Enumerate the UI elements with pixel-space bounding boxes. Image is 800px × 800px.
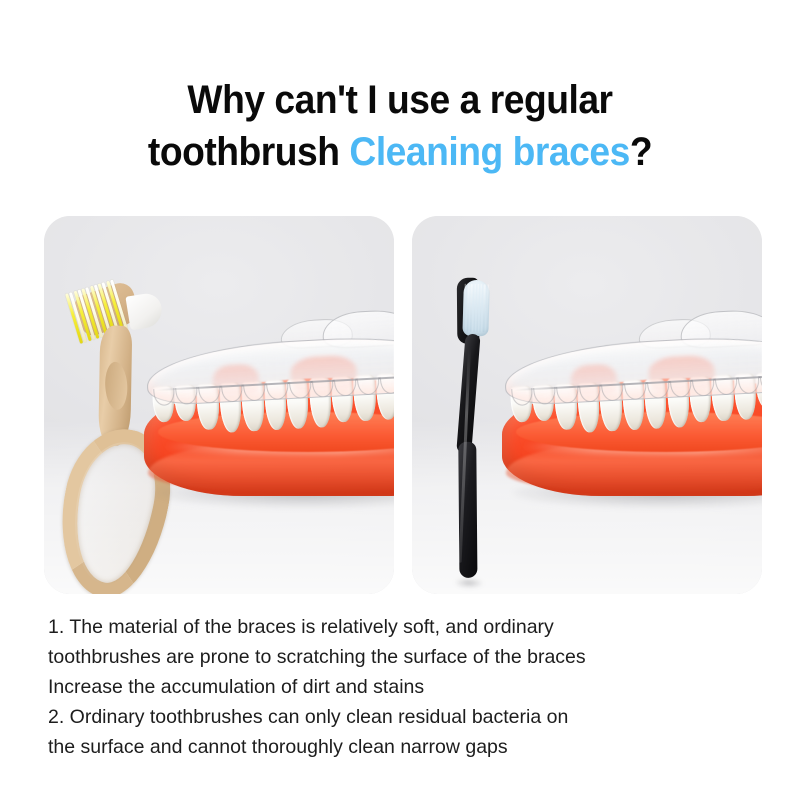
title-line-2-plain-start: toothbrush	[148, 130, 350, 174]
description-line-4: 2. Ordinary toothbrushes can only clean …	[48, 702, 760, 732]
aligner-body	[145, 331, 394, 406]
dental-model-left	[144, 301, 394, 516]
clear-aligner	[144, 316, 394, 407]
page-title: Why can't I use a regular toothbrush Cle…	[28, 74, 772, 178]
title-line-2: toothbrush Cleaning braces?	[28, 126, 772, 178]
title-line-1: Why can't I use a regular	[28, 74, 772, 126]
description-line-2: toothbrushes are prone to scratching the…	[48, 642, 760, 672]
description-line-1: 1. The material of the braces is relativ…	[48, 612, 760, 642]
denture-brush-panel[interactable]	[44, 216, 394, 594]
image-panel-row	[44, 216, 762, 594]
toothbrush-bristle-lines	[464, 284, 489, 333]
dental-model-right	[502, 301, 762, 516]
regular-toothbrush-panel[interactable]	[412, 216, 762, 594]
description-text: 1. The material of the braces is relativ…	[48, 612, 760, 762]
description-line-5: the surface and cannot thoroughly clean …	[48, 732, 760, 762]
regular-toothbrush-icon	[444, 277, 504, 578]
title-accent-text: Cleaning braces	[349, 130, 629, 174]
title-line-2-plain-end: ?	[630, 130, 652, 174]
description-line-3: Increase the accumulation of dirt and st…	[48, 672, 760, 702]
clear-aligner	[502, 316, 762, 407]
